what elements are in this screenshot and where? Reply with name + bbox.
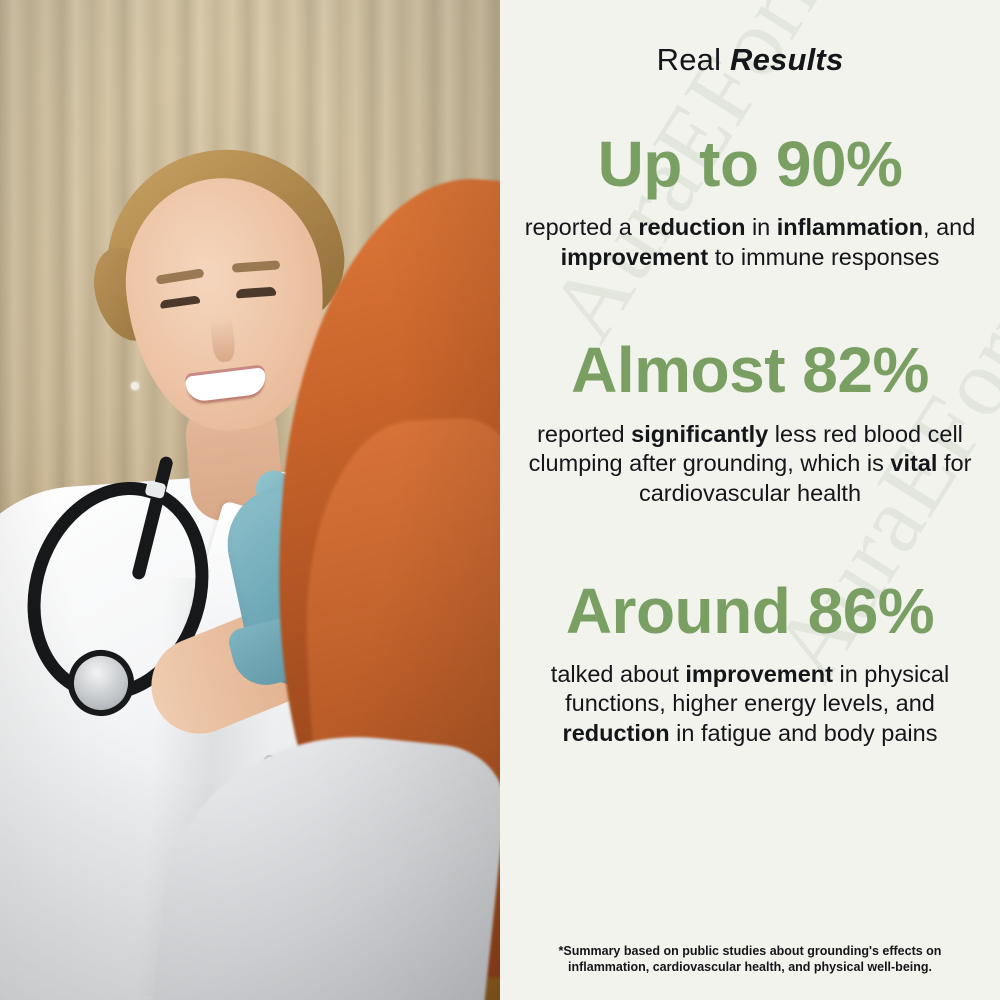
stat-block-3: Around 86% talked about improvement in p… bbox=[514, 579, 986, 749]
stat-headline: Up to 90% bbox=[514, 132, 986, 197]
page-title: Real Results bbox=[514, 0, 986, 78]
results-content-panel: AuraEForm AuraEForm AuraEForm Real Resul… bbox=[500, 0, 1000, 1000]
stat-body: reported a reduction in inflammation, an… bbox=[514, 213, 986, 272]
infographic-poster: AuraEForm AuraEForm AuraEForm Real Resul… bbox=[0, 0, 1000, 1000]
stat-body: reported significantly less red blood ce… bbox=[514, 420, 986, 509]
footnote-disclaimer: *Summary based on public studies about g… bbox=[518, 943, 982, 977]
photo-vignette bbox=[0, 0, 500, 1000]
stat-headline: Around 86% bbox=[514, 579, 986, 644]
stat-body: talked about improvement in physical fun… bbox=[514, 660, 986, 749]
stat-block-2: Almost 82% reported significantly less r… bbox=[514, 338, 986, 508]
page-title-bold: Results bbox=[730, 42, 843, 77]
page-title-regular: Real bbox=[657, 42, 722, 77]
doctor-patient-photo bbox=[0, 0, 500, 1000]
stat-block-1: Up to 90% reported a reduction in inflam… bbox=[514, 132, 986, 272]
stat-headline: Almost 82% bbox=[514, 338, 986, 403]
